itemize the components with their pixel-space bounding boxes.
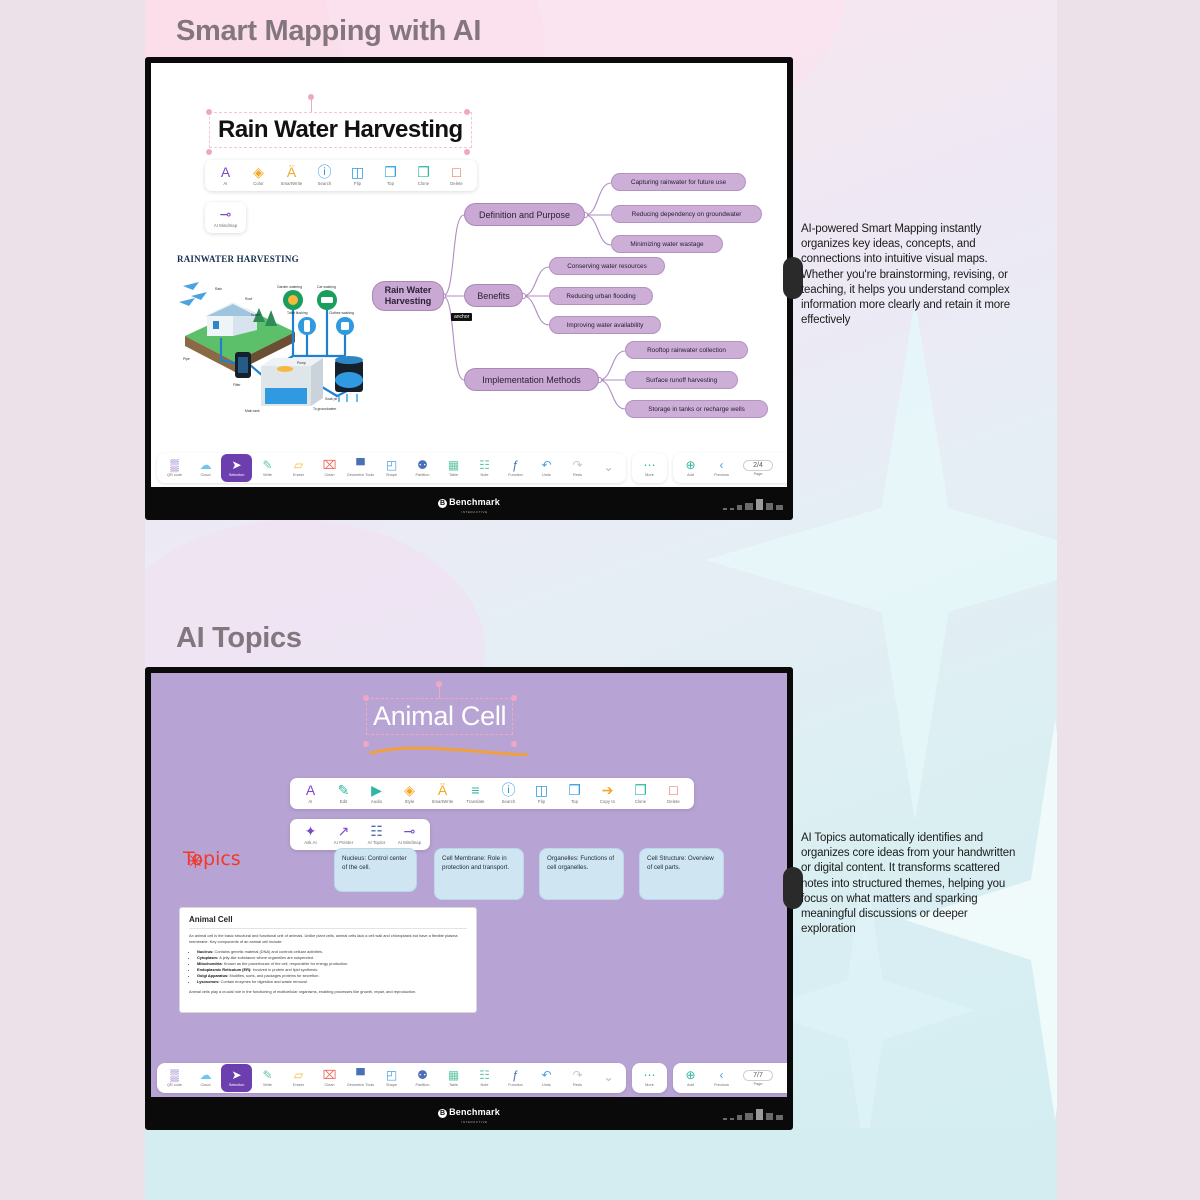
selection-handle-tl[interactable] [206, 109, 212, 115]
tool-label: Clone [635, 800, 646, 805]
mindmap-leaf-node[interactable]: Storage in tanks or recharge wells [625, 400, 768, 418]
bottom-more-group[interactable]: ⋯More [632, 453, 667, 483]
tool-label: Geometric Tools [347, 1083, 374, 1087]
title-text: Animal Cell [373, 701, 506, 732]
search-icon: ⓘ [502, 783, 516, 798]
mindmap-leaf-label: Surface runoff harvesting [646, 377, 717, 384]
object-title-rain-water-harvesting[interactable]: Rain Water Harvesting [209, 112, 472, 148]
shape-icon: ◰ [386, 459, 397, 472]
screen-ai-topics[interactable]: Animal Cell AAI✎Edit▶Audio◈StyleÄSmartWr… [151, 673, 787, 1097]
tool-qr-code-icon[interactable]: ▒QR code [159, 454, 190, 482]
tool-plus-circle-icon[interactable]: ⊕Add [675, 1064, 706, 1092]
mindmap-branch-label: Benefits [477, 291, 510, 301]
tool-label: Previous [714, 1083, 729, 1087]
mindmap-leaf-label: Reducing urban flooding [566, 293, 635, 300]
mindmap-leaf-node[interactable]: Improving water availability [549, 316, 661, 334]
infographic-title: RAINWATER HARVESTING [177, 254, 377, 264]
screen-smart-mapping[interactable]: Rain Water Harvesting AAI◈ColorÄSmartWri… [151, 63, 787, 487]
tool-style-icon[interactable]: ◈Style [393, 781, 426, 806]
tool-cloud-icon[interactable]: ☁Cloud [190, 1064, 221, 1092]
title-text: Rain Water Harvesting [218, 116, 463, 144]
cloud-icon: ☁ [200, 1069, 212, 1082]
function-icon: ƒ [512, 459, 519, 472]
svg-text:Gutter: Gutter [251, 313, 261, 317]
svg-text:Toilet flushing: Toilet flushing [287, 311, 308, 315]
tool-shape-icon[interactable]: ◰Shape [376, 454, 407, 482]
paint-bucket-icon: ◈ [253, 165, 264, 180]
tool-ai-mindmap-icon[interactable]: ⊸AI Mindmap [209, 205, 242, 230]
selection-stem [439, 685, 440, 699]
search-icon: ⓘ [318, 165, 332, 180]
svg-text:Roof: Roof [245, 297, 252, 301]
tool-label: Copy to [600, 800, 615, 805]
partition-icon: ⚉ [417, 459, 428, 472]
tool-more-dots-icon[interactable]: ⋯More [634, 454, 665, 482]
table-icon: ▦ [448, 1069, 459, 1082]
tool-pen-icon[interactable]: ✎Write [252, 454, 283, 482]
mindmap-leaf-node[interactable]: Reducing dependency on groundwater [611, 205, 762, 223]
tool-label: Geometric Tools [347, 473, 374, 477]
interactive-display-ai-topics: Animal Cell AAI✎Edit▶Audio◈StyleÄSmartWr… [145, 667, 793, 1130]
tool-translate-icon[interactable]: ≡Translate [459, 781, 492, 806]
bottom-pager-group[interactable]: ⊕Add‹Previous7/7Page›Next [673, 1063, 787, 1093]
mindmap-leaf-node[interactable]: Reducing urban flooding [549, 287, 653, 305]
more-dots-icon: ⋯ [644, 1069, 656, 1082]
device-chin: B Benchmark INTERACTIVE [145, 487, 793, 520]
tool-function-icon[interactable]: ƒFunction [500, 1064, 531, 1092]
tool-label: Selection [229, 1083, 245, 1087]
tool-label: Write [263, 473, 272, 477]
bring-to-top-icon: ❐ [384, 165, 397, 180]
mindmap-leaf-label: Capturing rainwater for future use [631, 179, 726, 186]
tool-label: Delete [450, 182, 463, 187]
mindmap-leaf-label: Storage in tanks or recharge wells [648, 406, 745, 413]
tool-clone-icon[interactable]: ❐Clone [624, 781, 657, 806]
mindmap-branch-label: Definition and Purpose [479, 210, 570, 220]
copy-to-icon: ➔ [602, 783, 614, 798]
tool-label: Note [480, 1083, 488, 1087]
tool-label: Undo [542, 473, 551, 477]
flip-icon: ◫ [351, 165, 364, 180]
chevron-left-icon: ‹ [720, 459, 724, 472]
tool-label: AI [308, 800, 312, 805]
object-toolbar-row1[interactable]: AAI✎Edit▶Audio◈StyleÄSmartWrite≡Translat… [290, 778, 694, 809]
function-icon: ƒ [512, 1069, 519, 1082]
tool-shape-icon[interactable]: ◰Shape [376, 1064, 407, 1092]
tool-label: Cloud [201, 1083, 211, 1087]
partition-icon: ⚉ [417, 1069, 428, 1082]
tool-label: Function [508, 473, 523, 477]
note-outro: Animal cells play a crucial role in the … [189, 989, 467, 995]
mindmap-leaf-node[interactable]: Capturing rainwater for future use [611, 173, 746, 191]
tool-label: Write [263, 1083, 272, 1087]
ai-pointer-icon: ↗ [338, 824, 350, 839]
tool-label: QR code [167, 473, 182, 477]
tool-label: Edit [340, 800, 348, 805]
bottom-more-group[interactable]: ⋯More [632, 1063, 667, 1093]
brand-name: Benchmark [449, 497, 500, 507]
tool-label: AI Topics [368, 841, 386, 846]
tool-label: More [645, 1083, 654, 1087]
note-title: Animal Cell [189, 915, 467, 924]
mindmap-leaf-node[interactable]: Surface runoff harvesting [625, 371, 738, 389]
trash-icon: □ [669, 783, 677, 798]
tool-clean-icon[interactable]: ⌧Clean [314, 454, 345, 482]
flip-icon: ◫ [535, 783, 548, 798]
tool-cursor-arrow-icon[interactable]: ➤Selection [221, 454, 252, 482]
svg-text:Soak pit: Soak pit [325, 397, 337, 401]
chevron-down-icon: ⌄ [603, 1071, 613, 1084]
tool-smart-write-icon[interactable]: ÄSmartWrite [275, 163, 308, 188]
tool-trash-icon[interactable]: □Delete [657, 781, 690, 806]
tool-smart-write-icon[interactable]: ÄSmartWrite [426, 781, 459, 806]
tool-label: SmartWrite [432, 800, 454, 805]
shape-icon: ◰ [386, 1069, 397, 1082]
page-value: 7/7 [743, 1070, 773, 1081]
tool-audio-icon[interactable]: ▶Audio [360, 781, 393, 806]
section-heading-ai-topics: AI Topics [176, 622, 302, 655]
mindmap-branch-node[interactable]: Benefits [464, 284, 523, 307]
bottom-tools-group[interactable]: ▒QR code☁Cloud➤Selection✎Write▱Eraser⌧Cl… [157, 453, 626, 483]
infographic-graphic: Rain Roof Gutter Pipe Filter Main tank P… [177, 264, 377, 416]
tool-cloud-icon[interactable]: ☁Cloud [190, 454, 221, 482]
chevron-down-icon: ⌄ [603, 461, 613, 474]
tool-more-dots-icon[interactable]: ⋯More [634, 1064, 665, 1092]
device-side-knob[interactable] [783, 257, 803, 299]
tool-undo-arrow-icon[interactable]: ↶Undo [531, 1064, 562, 1092]
device-side-knob[interactable] [783, 867, 803, 909]
tool-flip-icon[interactable]: ◫Flip [525, 781, 558, 806]
tool-copy-to-icon[interactable]: ➔Copy to [591, 781, 624, 806]
tool-label: AI Mindmap [398, 841, 421, 846]
tool-label: Function [508, 1083, 523, 1087]
mindmap-leaf-node[interactable]: Conserving water resources [549, 257, 665, 275]
bottom-tools-group[interactable]: ▒QR code☁Cloud➤Selection✎Write▱Eraser⌧Cl… [157, 1063, 626, 1093]
topic-card[interactable]: Organelles: Functions of cell organelles… [539, 848, 624, 900]
mindmap-leaf-label: Reducing dependency on groundwater [632, 211, 742, 218]
tool-edit-pencil-icon[interactable]: ✎Edit [327, 781, 360, 806]
object-toolbar-row2[interactable]: ⊸AI Mindmap [205, 202, 246, 233]
tool-ai-text-icon[interactable]: AAI [294, 781, 327, 806]
mindmap-leaf-label: Conserving water resources [567, 263, 647, 270]
svg-text:Clothes washing: Clothes washing [329, 311, 354, 315]
svg-text:Pump: Pump [297, 361, 306, 365]
note-card-animal-cell[interactable]: Animal Cell An animal cell is the basic … [179, 907, 477, 1013]
description-ai-topics: AI Topics automatically identifies and o… [801, 831, 1017, 937]
selection-handle-rotate[interactable] [436, 681, 442, 687]
tool-search-icon[interactable]: ⓘSearch [492, 781, 525, 806]
qr-code-icon: ▒ [170, 1069, 179, 1082]
smart-write-icon: Ä [287, 165, 296, 180]
tool-label: Redo [573, 473, 582, 477]
bg-bottom-band [145, 1128, 1057, 1200]
tool-chevron-down-icon[interactable]: ⌄ [593, 1064, 624, 1092]
page-indicator[interactable]: 2/4Page [737, 454, 779, 482]
topic-card[interactable]: Cell Membrane: Role in protection and tr… [434, 848, 524, 900]
selection-handle-tl[interactable] [363, 695, 369, 701]
bring-to-top-icon: ❐ [568, 783, 581, 798]
note-bullet-list: Nucleus: Contains genetic material (DNA)… [189, 949, 467, 985]
trash-icon: □ [452, 165, 460, 180]
tool-label: More [645, 473, 654, 477]
tool-label: Style [405, 800, 415, 805]
ai-text-icon: A [306, 783, 315, 798]
tool-geometric-tools-icon[interactable]: ▀Geometric Tools [345, 1064, 376, 1092]
mindmap-branch-node[interactable]: Definition and Purpose [464, 203, 585, 226]
svg-text:To groundwater: To groundwater [313, 407, 337, 411]
tool-chevron-right-icon[interactable]: ›Next [779, 1064, 787, 1092]
tool-ask-ai-icon[interactable]: ✦Ask AI [294, 822, 327, 847]
description-smart-mapping: AI-powered Smart Mapping instantly organ… [801, 222, 1017, 328]
tool-label: Clean [325, 1083, 335, 1087]
bottom-pager-group[interactable]: ⊕Add‹Previous2/4Page›Next [673, 453, 787, 483]
tool-label: Cloud [201, 473, 211, 477]
more-dots-icon: ⋯ [644, 459, 656, 472]
cursor-arrow-icon: ➤ [231, 1069, 241, 1082]
mindmap-leaf-label: Rooftop rainwater collection [647, 347, 726, 354]
tool-label: Eraser [293, 473, 304, 477]
svg-text:Garden watering: Garden watering [277, 285, 302, 289]
svg-text:Filter: Filter [233, 383, 241, 387]
tool-label: Translate [466, 800, 484, 805]
tool-flip-icon[interactable]: ◫Flip [341, 163, 374, 188]
tool-label: SmartWrite [281, 182, 303, 187]
tool-label: Search [318, 182, 332, 187]
tool-ai-text-icon[interactable]: AAI [209, 163, 242, 188]
tool-label: Top [387, 182, 394, 187]
tool-chevron-down-icon[interactable]: ⌄ [593, 454, 624, 482]
tool-redo-arrow-icon[interactable]: ↷Redo [562, 1064, 593, 1092]
tool-label: Table [449, 473, 458, 477]
mindmap-leaf-label: Improving water availability [567, 322, 644, 329]
note-bullet: Lysosomes: Contain enzymes for digestion… [197, 979, 467, 985]
tool-table-icon[interactable]: ▦Table [438, 1064, 469, 1092]
undo-arrow-icon: ↶ [541, 459, 551, 472]
style-icon: ◈ [404, 783, 415, 798]
object-toolbar-row1[interactable]: AAI◈ColorÄSmartWriteⓘSearch◫Flip❐Top❐Clo… [205, 160, 477, 191]
device-brand: B Benchmark INTERACTIVE [145, 492, 793, 515]
tool-label: Add [687, 473, 694, 477]
tool-label: Shape [386, 473, 397, 477]
geometric-tools-icon: ▀ [356, 1069, 365, 1082]
handwriting-topics: Topics [183, 848, 241, 870]
mindmap-leaf-label: Minimizing water wastage [630, 241, 703, 248]
tool-label: Delete [667, 800, 680, 805]
ask-ai-icon: ✦ [305, 824, 317, 839]
tool-label: Color [253, 182, 264, 187]
tool-ai-topics-icon[interactable]: ☷AI Topics [360, 822, 393, 847]
plus-circle-icon: ⊕ [685, 459, 695, 472]
svg-text:Main tank: Main tank [245, 409, 260, 413]
selection-handle-tr[interactable] [464, 109, 470, 115]
eraser-icon: ▱ [294, 459, 303, 472]
tool-ai-pointer-icon[interactable]: ↗AI Pointer [327, 822, 360, 847]
poster-page: Smart Mapping with AI AI Topics AI-power… [0, 0, 1200, 1200]
tool-label: Eraser [293, 1083, 304, 1087]
edit-pencil-icon: ✎ [338, 783, 350, 798]
mindmap-branch-node[interactable]: Implementation Methods [464, 368, 599, 391]
tool-label: Ask AI [304, 841, 316, 846]
clone-icon: ❐ [417, 165, 430, 180]
note-icon: ☷ [479, 459, 490, 472]
tool-redo-arrow-icon[interactable]: ↷Redo [562, 454, 593, 482]
tool-pen-icon[interactable]: ✎Write [252, 1064, 283, 1092]
ai-topics-icon: ☷ [370, 824, 383, 839]
tool-note-icon[interactable]: ☷Note [469, 454, 500, 482]
svg-text:Car washing: Car washing [317, 285, 336, 289]
object-title-animal-cell[interactable]: Animal Cell [366, 698, 513, 735]
tool-label: AI [223, 182, 227, 187]
ai-text-icon: A [221, 165, 230, 180]
cloud-icon: ☁ [200, 459, 212, 472]
tool-cursor-arrow-icon[interactable]: ➤Selection [221, 1064, 252, 1092]
clean-icon: ⌧ [323, 1069, 337, 1082]
topic-card[interactable]: Cell Structure: Overview of cell parts. [639, 848, 724, 900]
tool-label: Flip [354, 182, 361, 187]
tool-label: Search [502, 800, 516, 805]
rainwater-infographic[interactable]: RAINWATER HARVESTING [177, 254, 377, 424]
tool-undo-arrow-icon[interactable]: ↶Undo [531, 454, 562, 482]
note-icon: ☷ [479, 1069, 490, 1082]
selection-stem [311, 99, 312, 112]
tool-label: Previous [714, 473, 729, 477]
tool-chevron-left-icon[interactable]: ‹Previous [706, 1064, 737, 1092]
page-indicator[interactable]: 7/7Page [737, 1064, 779, 1092]
mindmap-leaf-node[interactable]: Minimizing water wastage [611, 235, 723, 253]
page-label: Page [754, 1082, 763, 1086]
tool-chevron-right-icon[interactable]: ›Next [779, 454, 787, 482]
pen-icon: ✎ [262, 1069, 272, 1082]
cursor-arrow-icon: ➤ [231, 459, 241, 472]
pen-icon: ✎ [262, 459, 272, 472]
tool-label: Partition [416, 473, 430, 477]
redo-arrow-icon: ↷ [572, 1069, 582, 1082]
device-front-keys[interactable] [723, 499, 783, 510]
selection-handle-tr[interactable] [511, 695, 517, 701]
tool-search-icon[interactable]: ⓘSearch [308, 163, 341, 188]
mindmap-root-node[interactable]: Rain Water Harvesting [372, 281, 444, 311]
tool-label: Flip [538, 800, 545, 805]
tool-bring-to-top-icon[interactable]: ❐Top [374, 163, 407, 188]
tool-label: Audio [371, 800, 382, 805]
undo-arrow-icon: ↶ [541, 1069, 551, 1082]
interactive-display-smart-mapping: Rain Water Harvesting AAI◈ColorÄSmartWri… [145, 57, 793, 520]
selection-handle-br[interactable] [464, 149, 470, 155]
redo-arrow-icon: ↷ [572, 459, 582, 472]
plus-circle-icon: ⊕ [685, 1069, 695, 1082]
mindmap-branch-label: Implementation Methods [482, 375, 581, 385]
anchor-chip: anchor [451, 313, 472, 321]
audio-icon: ▶ [371, 783, 382, 798]
clone-icon: ❐ [634, 783, 647, 798]
tool-plus-circle-icon[interactable]: ⊕Add [675, 454, 706, 482]
topic-card[interactable]: Nucleus: Control center of the cell. [334, 848, 417, 892]
clean-icon: ⌧ [323, 459, 337, 472]
tool-label: Note [480, 473, 488, 477]
tool-label: AI Mindmap [214, 224, 237, 229]
device-chin: B Benchmark INTERACTIVE [145, 1097, 793, 1130]
page-value: 2/4 [743, 460, 773, 471]
tool-label: Undo [542, 1083, 551, 1087]
title-underline-stroke [369, 744, 529, 756]
brand-mark-icon: B [438, 499, 447, 508]
tool-label: QR code [167, 1083, 182, 1087]
eraser-icon: ▱ [294, 1069, 303, 1082]
chevron-left-icon: ‹ [720, 1069, 724, 1082]
object-toolbar-row2[interactable]: ✦Ask AI↗AI Pointer☷AI Topics⊸AI Mindmap [290, 819, 430, 850]
mindmap-root-label: Rain Water Harvesting [379, 285, 437, 308]
tool-label: Top [571, 800, 578, 805]
tool-clone-icon[interactable]: ❐Clone [407, 163, 440, 188]
ai-mindmap-icon: ⊸ [220, 207, 232, 222]
tool-bring-to-top-icon[interactable]: ❐Top [558, 781, 591, 806]
tool-label: Selection [229, 473, 245, 477]
screen1-bottom-toolbar[interactable]: ▒QR code☁Cloud➤Selection✎Write▱Eraser⌧Cl… [151, 449, 787, 487]
tool-qr-code-icon[interactable]: ▒QR code [159, 1064, 190, 1092]
table-icon: ▦ [448, 459, 459, 472]
tool-partition-icon[interactable]: ⚉Partition [407, 1064, 438, 1092]
section-heading-smart-mapping: Smart Mapping with AI [176, 15, 481, 48]
device-brand: B Benchmark INTERACTIVE [145, 1102, 793, 1125]
brand-subtitle: INTERACTIVE [449, 510, 500, 514]
note-divider [189, 928, 467, 929]
note-intro: An animal cell is the basic structural a… [189, 933, 467, 945]
geometric-tools-icon: ▀ [356, 459, 365, 472]
tool-note-icon[interactable]: ☷Note [469, 1064, 500, 1092]
tool-label: Table [449, 1083, 458, 1087]
svg-text:Rain: Rain [215, 287, 222, 291]
qr-code-icon: ▒ [170, 459, 179, 472]
svg-text:Pipe: Pipe [183, 357, 190, 361]
tool-paint-bucket-icon[interactable]: ◈Color [242, 163, 275, 188]
tool-clean-icon[interactable]: ⌧Clean [314, 1064, 345, 1092]
tool-label: AI Pointer [334, 841, 353, 846]
tool-label: Shape [386, 1083, 397, 1087]
tool-trash-icon[interactable]: □Delete [440, 163, 473, 188]
tool-eraser-icon[interactable]: ▱Eraser [283, 454, 314, 482]
tool-eraser-icon[interactable]: ▱Eraser [283, 1064, 314, 1092]
tool-label: Clone [418, 182, 429, 187]
smart-write-icon: Ä [438, 783, 447, 798]
translate-icon: ≡ [471, 783, 479, 798]
tool-table-icon[interactable]: ▦Table [438, 454, 469, 482]
tool-label: Partition [416, 1083, 430, 1087]
tool-function-icon[interactable]: ƒFunction [500, 454, 531, 482]
tool-partition-icon[interactable]: ⚉Partition [407, 454, 438, 482]
selection-handle-rotate[interactable] [308, 94, 314, 100]
brand-subtitle: INTERACTIVE [449, 1120, 500, 1124]
tool-chevron-left-icon[interactable]: ‹Previous [706, 454, 737, 482]
device-front-keys[interactable] [723, 1109, 783, 1120]
page-label: Page [754, 472, 763, 476]
tool-label: Clean [325, 473, 335, 477]
brand-name: Benchmark [449, 1107, 500, 1117]
brand-mark-icon: B [438, 1109, 447, 1118]
mindmap-leaf-node[interactable]: Rooftop rainwater collection [625, 341, 748, 359]
selection-handle-bl[interactable] [206, 149, 212, 155]
tool-ai-mindmap-icon[interactable]: ⊸AI Mindmap [393, 822, 426, 847]
ai-mindmap-icon: ⊸ [404, 824, 416, 839]
screen2-bottom-toolbar[interactable]: ▒QR code☁Cloud➤Selection✎Write▱Eraser⌧Cl… [151, 1059, 787, 1097]
tool-label: Add [687, 1083, 694, 1087]
tool-label: Redo [573, 1083, 582, 1087]
tool-geometric-tools-icon[interactable]: ▀Geometric Tools [345, 454, 376, 482]
